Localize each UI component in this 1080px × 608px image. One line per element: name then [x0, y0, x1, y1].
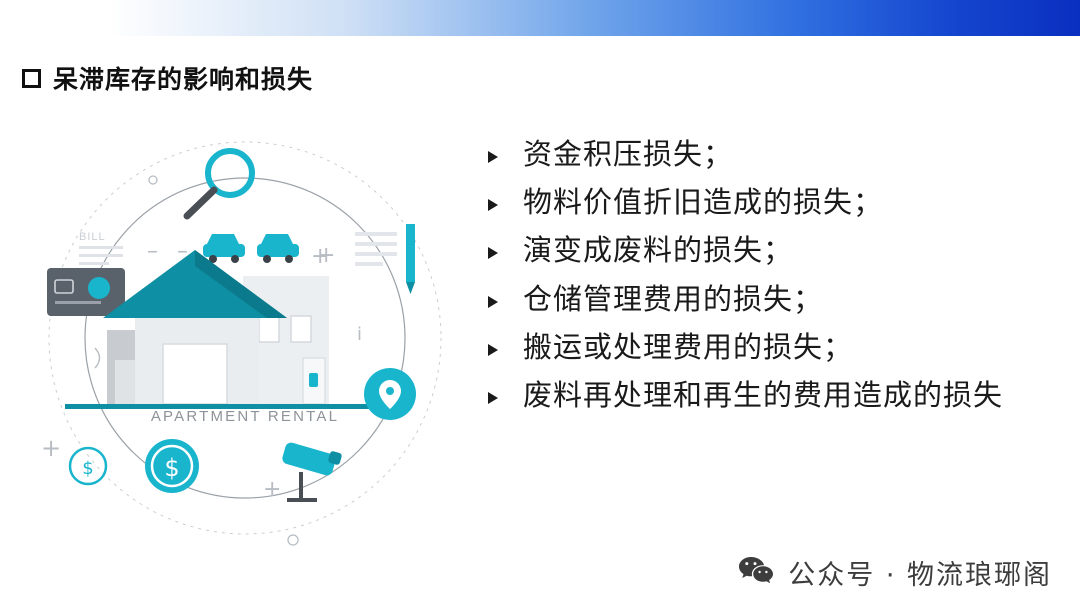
list-item: 资金积压损失；	[487, 134, 1047, 175]
svg-text:+: +	[263, 477, 281, 502]
slide-canvas: 呆滞库存的影响和损失 + + + i BILL	[0, 0, 1080, 608]
document-lines-icon: BILL	[79, 231, 123, 265]
list-item-label: 搬运或处理费用的损失；	[523, 327, 853, 368]
illustration-svg: + + + i BILL	[35, 128, 455, 558]
list-item: 废料再处理和再生的费用造成的损失	[487, 375, 1047, 416]
list-item-label: 物料价值折旧造成的损失；	[523, 182, 883, 223]
list-item: 演变成废料的损失；	[487, 230, 1047, 271]
triangle-right-icon	[487, 247, 503, 259]
triangle-right-icon	[487, 392, 503, 404]
wechat-icon	[738, 555, 774, 590]
bullet-list: 资金积压损失； 物料价值折旧造成的损失； 演变成废料的损失； 仓储管理费用的损失…	[487, 134, 1047, 423]
dollar-badge-icon: $	[145, 439, 199, 493]
illustration-graphic: + + + i BILL	[35, 128, 455, 558]
car-icon	[257, 234, 299, 263]
document-lines-icon	[355, 232, 397, 266]
list-item-label: 资金积压损失；	[523, 134, 733, 175]
list-item-label: 废料再处理和再生的费用造成的损失	[523, 375, 1003, 416]
list-item: 物料价值折旧造成的损失；	[487, 182, 1047, 223]
magnifier-icon	[187, 151, 252, 216]
page-title: 呆滞库存的影响和损失	[53, 60, 313, 96]
svg-text:+: +	[41, 434, 61, 462]
svg-text:$: $	[164, 454, 179, 482]
list-item: 仓储管理费用的损失；	[487, 279, 1047, 320]
svg-text:+: +	[317, 243, 335, 268]
watermark-label: 公众号 · 物流琅琊阁	[788, 553, 1052, 592]
triangle-right-icon	[487, 151, 503, 163]
credit-card-icon	[47, 268, 125, 316]
list-item-label: 仓储管理费用的损失；	[523, 279, 823, 320]
slide-title-row: 呆滞库存的影响和损失	[22, 60, 313, 96]
svg-text:BILL: BILL	[79, 231, 106, 243]
car-icon	[203, 234, 245, 263]
pencil-icon	[406, 224, 415, 294]
triangle-right-icon	[487, 199, 503, 211]
header-gradient-bar	[0, 0, 1080, 36]
square-outline-icon	[22, 69, 41, 88]
list-item-label: 演变成废料的损失；	[523, 230, 793, 271]
svg-text:i: i	[357, 324, 362, 345]
triangle-right-icon	[487, 344, 503, 356]
svg-text:$: $	[82, 458, 93, 479]
dollar-coin-icon: $	[70, 448, 106, 484]
list-item: 搬运或处理费用的损失；	[487, 327, 1047, 368]
svg-text:–: –	[147, 239, 158, 264]
watermark: 公众号 · 物流琅琊阁	[738, 553, 1052, 592]
triangle-right-icon	[487, 296, 503, 308]
illustration-caption: APARTMENT RENTAL	[35, 408, 455, 425]
